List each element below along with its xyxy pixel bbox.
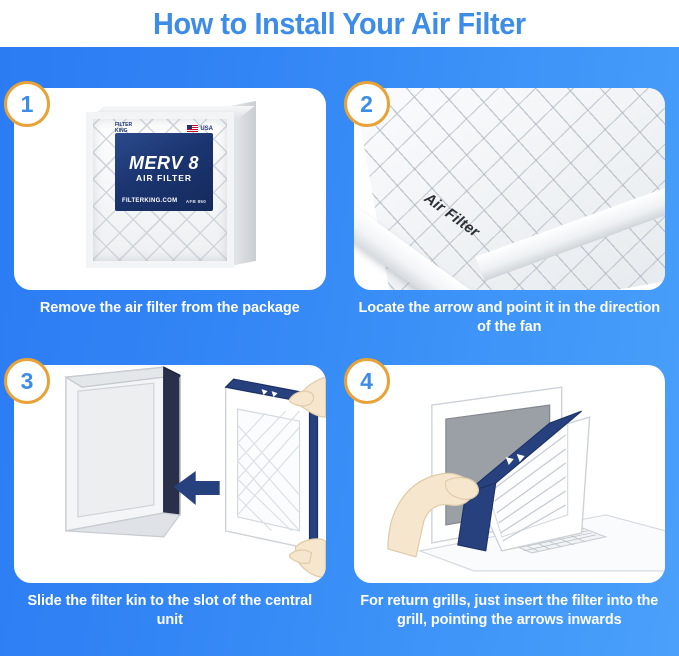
website-text: FILTERKING.COM [122,198,177,204]
step-artwork-1: FILTER KING USA MERV 8 AIR FILTE [14,88,326,290]
slide-filter-illustration [14,365,326,583]
step-card-2: Air Filter [354,88,666,290]
filter-brand-row: FILTER KING USA [115,122,213,135]
step-panel-2: Air Filter 2 Locate the arrow and point … [340,47,679,346]
central-unit-housing [66,367,180,537]
step-panel-4: 4 For return grills, just insert the fil… [340,346,679,656]
step-badge-3: 3 [4,358,50,404]
filter-corner-image: Air Filter [354,88,666,290]
page-title: How to Install Your Air Filter [153,6,526,42]
step-panel-3: 3 Slide the filter kin to the slot of th… [0,346,340,656]
label-footer: FILTERKING.COM AFB 850 [122,198,206,204]
step-badge-2: 2 [344,81,390,127]
air-filter-subtitle: AIR FILTER [115,173,213,183]
step-panel-1: FILTER KING USA MERV 8 AIR FILTE [0,47,340,346]
step-number-2: 2 [360,93,373,116]
step-caption-4: For return grills, just insert the filte… [354,592,666,631]
step-number-1: 1 [21,93,34,116]
country-label: USA [200,126,213,132]
step-badge-1: 1 [4,81,50,127]
step-caption-3: Slide the filter kin to the slot of the … [14,592,326,631]
product-code-text: AFB 850 [186,199,206,204]
filter-king-logo: FILTER KING [115,123,132,134]
step-card-1: FILTER KING USA MERV 8 AIR FILTE [14,88,326,290]
step-caption-2: Locate the arrow and point it in the dir… [354,299,666,338]
step-badge-4: 4 [344,358,390,404]
step-number-3: 3 [21,370,34,393]
step-caption-1: Remove the air filter from the package [14,299,326,318]
insert-direction-arrow [174,471,220,505]
merv-rating-text: MERV 8 [115,153,213,174]
filter-navy-label: MERV 8 AIR FILTER FILTERKING.COM AFB 850 [115,133,213,211]
step-number-4: 4 [360,370,373,393]
usa-flag-icon [187,125,198,132]
step-card-4 [354,365,666,583]
step-artwork-2: Air Filter [354,88,666,290]
step-card-3 [14,365,326,583]
made-in-usa-mark: USA [187,125,213,132]
air-filter-box-image: FILTER KING USA MERV 8 AIR FILTE [86,106,256,271]
return-grill-illustration [354,365,666,583]
step-artwork-3 [14,365,326,583]
infographic-page: How to Install Your Air Filter FILTER KI… [0,0,679,656]
header-band: How to Install Your Air Filter [0,0,679,47]
step-artwork-4 [354,365,666,583]
filter-front-face: FILTER KING USA MERV 8 AIR FILTE [86,112,234,268]
steps-grid: FILTER KING USA MERV 8 AIR FILTE [0,47,679,656]
brand-line-2: KING [115,129,132,134]
